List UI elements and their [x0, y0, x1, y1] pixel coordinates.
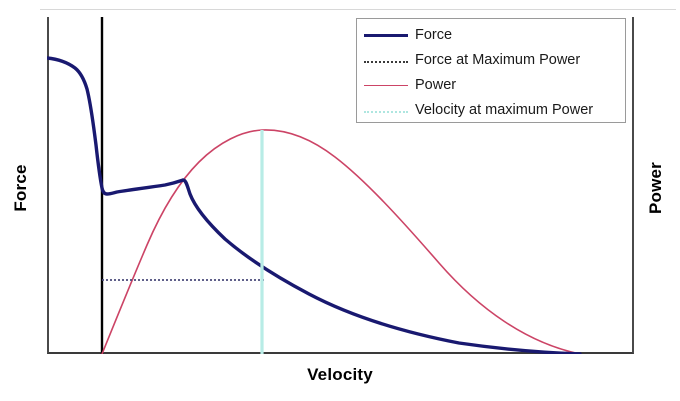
legend-item-force-at-maximum-power: Force at Maximum Power	[357, 48, 625, 73]
legend-item-force: Force	[357, 23, 625, 48]
legend-label-power: Power	[415, 78, 456, 93]
force-at-max-power-swatch-icon	[364, 54, 408, 68]
legend-label-force: Force	[415, 28, 452, 43]
x-axis-title: Velocity	[0, 365, 680, 385]
y-axis-left-title: Force	[11, 148, 31, 228]
legend-item-power: Power	[357, 73, 625, 98]
legend-item-velocity-at-maximum-power: Velocity at maximum Power	[357, 98, 625, 123]
power-curve	[102, 130, 580, 354]
velocity-at-max-power-swatch-icon	[364, 104, 408, 118]
legend-label-force-at-maximum-power: Force at Maximum Power	[415, 53, 580, 68]
y-axis-right-title: Power	[646, 148, 666, 228]
header-divider	[40, 9, 676, 10]
force-swatch-icon	[364, 29, 408, 43]
legend-label-velocity-at-maximum-power: Velocity at maximum Power	[415, 103, 593, 118]
chart-legend: Force Force at Maximum Power Power Veloc…	[356, 18, 626, 123]
force-velocity-power-chart: Force Power Velocity Force Force at Maxi…	[0, 0, 680, 401]
power-swatch-icon	[364, 79, 408, 93]
